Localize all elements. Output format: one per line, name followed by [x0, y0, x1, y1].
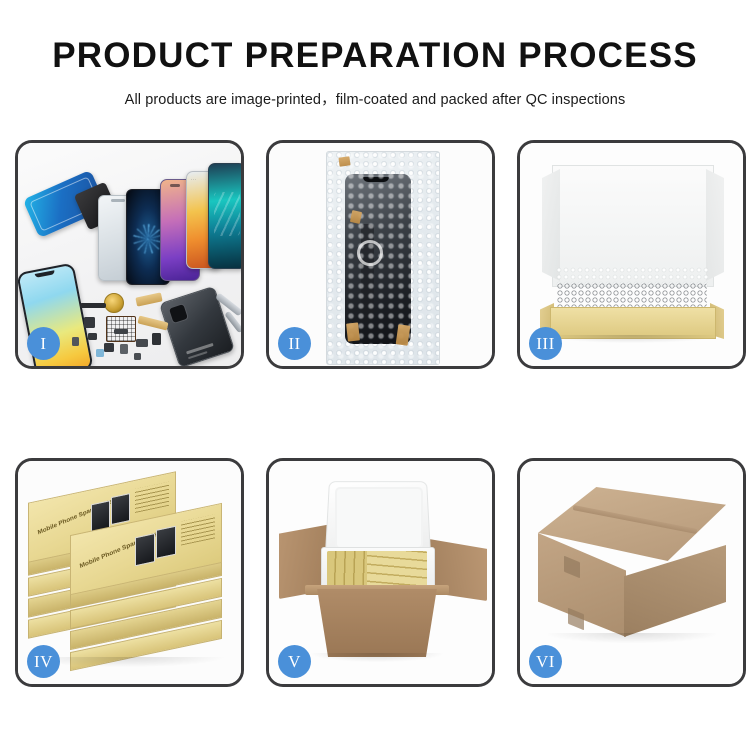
tape-strip-bottom-left [346, 322, 360, 341]
flex-cable-a [135, 292, 162, 306]
process-step-panel-2: II [266, 140, 495, 369]
step-badge-1: I [27, 327, 60, 360]
packed-yellow-boxes [327, 551, 427, 589]
carton-front-panel [309, 589, 445, 657]
bubble-wrap-bag [326, 151, 440, 365]
carton-right-panel [624, 545, 726, 637]
step-badge-2: II [278, 327, 311, 360]
earpiece-component [80, 303, 106, 308]
phone-display-teal [208, 163, 241, 269]
tape-strip-top [338, 156, 350, 166]
foam-lid-inner-rim [335, 487, 423, 549]
box-drop-shadow [546, 335, 718, 343]
process-step-panel-6: VI [517, 458, 746, 687]
page-subtitle: All products are image-printed，film-coat… [0, 88, 750, 109]
step-badge-5: V [278, 645, 311, 678]
page-header: PRODUCT PREPARATION PROCESS All products… [0, 0, 750, 109]
step-badge-4: IV [27, 645, 60, 678]
bubble-wrapped-contents [557, 283, 707, 309]
sealed-carton-drop-shadow [548, 633, 716, 643]
page-title: PRODUCT PREPARATION PROCESS [0, 38, 750, 75]
step-badge-6: VI [529, 645, 562, 678]
process-step-panel-5: V [266, 458, 495, 687]
carton-drop-shadow [311, 653, 443, 662]
box-lid-left-flap [542, 169, 560, 281]
process-steps-grid: · · · I [15, 140, 735, 687]
box-lid-right-flap [706, 169, 724, 281]
process-step-panel-4: Mobile Phone Spare Parts Mobile Phone Sp… [15, 458, 244, 687]
bubble-texture-overlay [327, 152, 439, 364]
process-step-panel-1: · · · I [15, 140, 244, 369]
step-badge-3: III [529, 327, 562, 360]
speaker-component [104, 293, 124, 313]
process-step-panel-3: III [517, 140, 746, 369]
